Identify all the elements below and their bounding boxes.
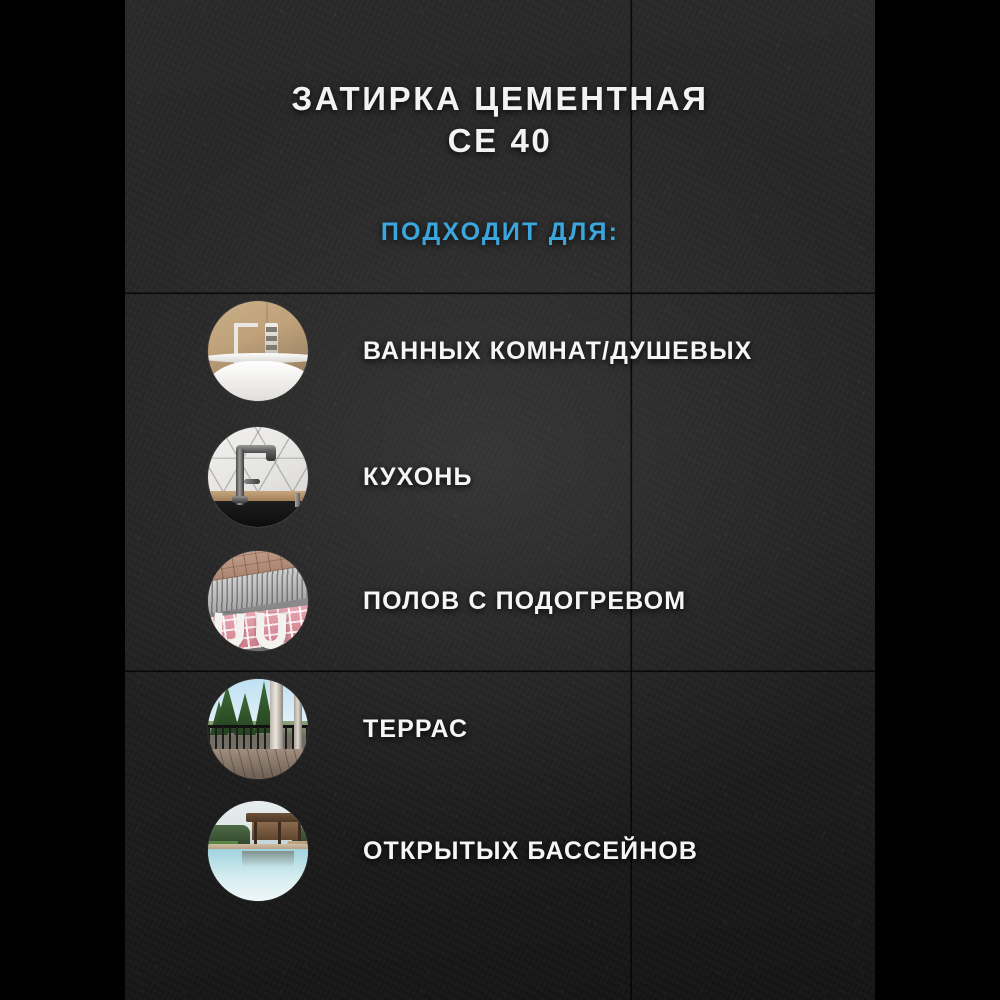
list-item-label: ВАННЫХ КОМНАТ/ДУШЕВЫХ [363, 337, 752, 366]
product-infographic-poster: ЗАТИРКА ЦЕМЕНТНАЯ CE 40 ПОДХОДИТ ДЛЯ: ВА… [0, 0, 1000, 1000]
terrace-photo-thumbnail [208, 679, 308, 779]
underfloor-heating-photo-thumbnail [208, 551, 308, 651]
terrace-illustration [208, 679, 308, 779]
underfloor-heating-illustration [208, 551, 308, 651]
swimming-pool-photo-thumbnail [208, 801, 308, 901]
list-item: КУХОНЬ [208, 426, 908, 528]
list-item-label: ОТКРЫТЫХ БАССЕЙНОВ [363, 837, 698, 866]
list-item: ПОЛОВ С ПОДОГРЕВОМ [208, 550, 908, 652]
list-item: ОТКРЫТЫХ БАССЕЙНОВ [208, 800, 908, 902]
bathtub-illustration [208, 301, 308, 401]
kitchen-faucet-illustration [208, 427, 308, 527]
list-item-label: КУХОНЬ [363, 463, 473, 492]
kitchen-photo-thumbnail [208, 427, 308, 527]
list-item-label: ПОЛОВ С ПОДОГРЕВОМ [363, 587, 686, 616]
list-item: ВАННЫХ КОМНАТ/ДУШЕВЫХ [208, 300, 908, 402]
outdoor-pool-illustration [208, 801, 308, 901]
bathroom-photo-thumbnail [208, 301, 308, 401]
list-item-label: ТЕРРАС [363, 715, 468, 744]
list-item: ТЕРРАС [208, 678, 908, 780]
suitable-for-list: ВАННЫХ КОМНАТ/ДУШЕВЫХ КУХОНЬ [0, 0, 1000, 1000]
